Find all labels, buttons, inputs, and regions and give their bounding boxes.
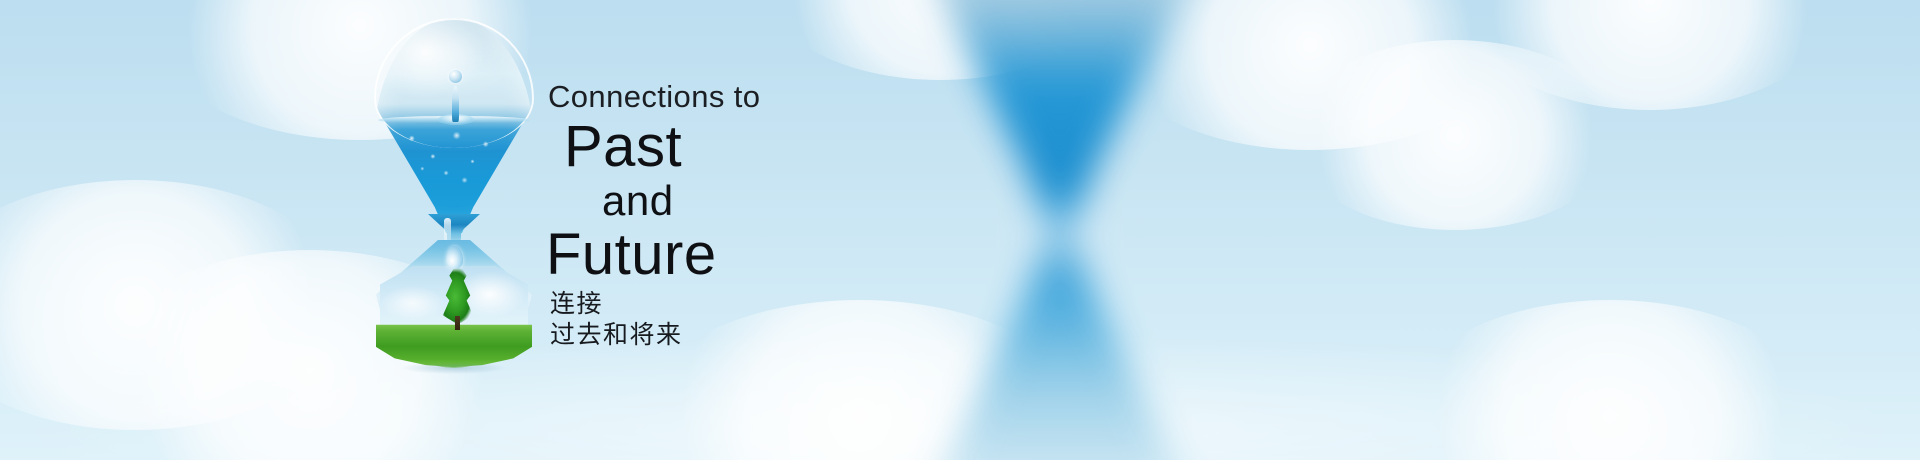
cloud-icon [0,180,350,430]
headline-past: Past [546,116,966,178]
headline-future: Future [546,224,966,286]
water-bubbles [388,124,520,196]
tree-trunk [455,316,460,330]
grass-field [376,320,532,368]
subtitle-cn-line1: 连接 [546,289,966,320]
hero-banner: Connections to Past and Future 连接 过去和将来 [0,0,1920,460]
cloud-icon [1110,0,1510,150]
cloud-icon [1290,40,1620,230]
headline-and: and [546,178,966,224]
headline-block: Connections to Past and Future 连接 过去和将来 [546,78,966,351]
cloud-icon [1460,0,1840,110]
headline-eyebrow: Connections to [546,78,966,116]
splash-droplet-icon [449,70,462,83]
backdrop-neck-glow [1017,188,1103,284]
water-drop-icon [446,246,463,269]
water-hourglass-icon [366,18,542,358]
cloud-icon [760,0,1120,80]
hourglass-shadow [402,362,506,374]
subtitle-cn-line2: 过去和将来 [546,320,966,351]
cloud-icon [1400,300,1820,460]
splash-column [452,86,459,122]
